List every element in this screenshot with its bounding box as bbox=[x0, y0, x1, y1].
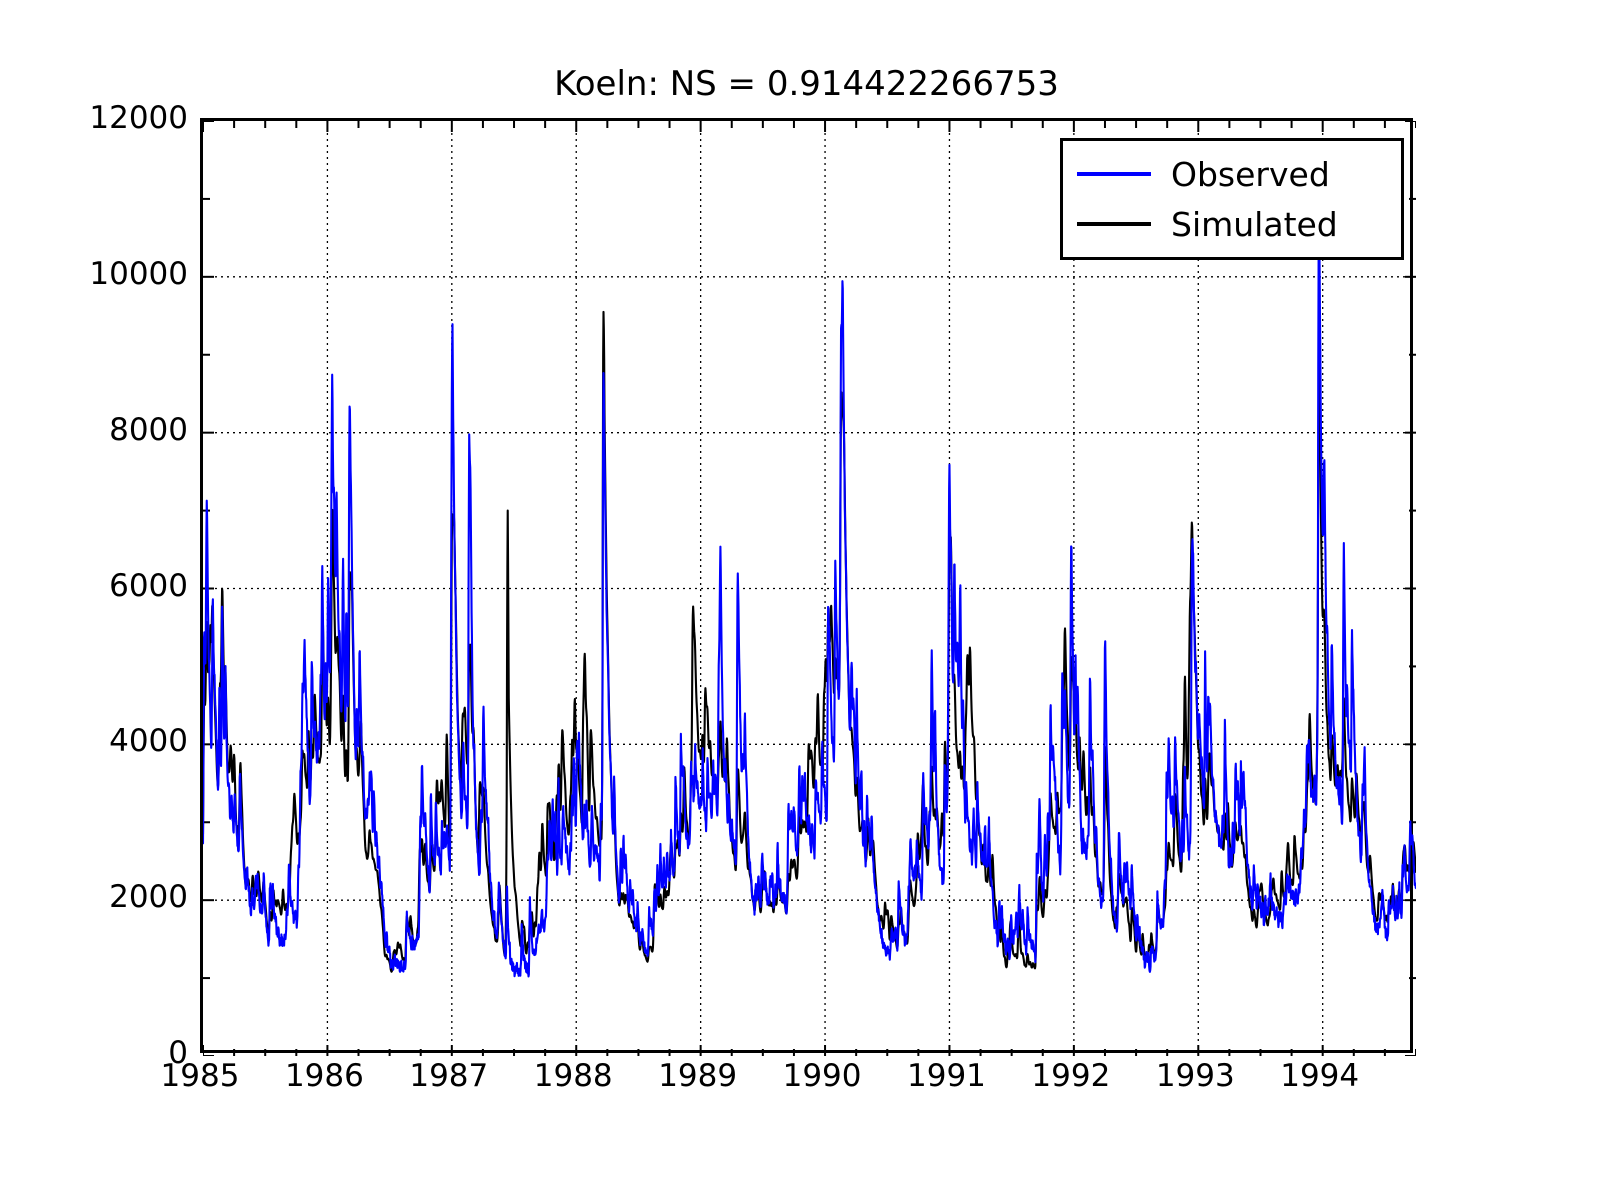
figure-canvas: Koeln: NS = 0.914422266753 0200040006000… bbox=[0, 0, 1600, 1200]
gridlines bbox=[203, 121, 1416, 1056]
x-tick-label: 1991 bbox=[907, 1058, 986, 1094]
x-tick-label: 1988 bbox=[534, 1058, 613, 1094]
chart-legend: Observed Simulated bbox=[1060, 138, 1404, 260]
legend-item-observed: Observed bbox=[1063, 149, 1401, 199]
x-tick-label: 1987 bbox=[409, 1058, 488, 1094]
x-tick-label: 1989 bbox=[658, 1058, 737, 1094]
x-tick-label: 1993 bbox=[1156, 1058, 1235, 1094]
x-tick-label: 1990 bbox=[783, 1058, 862, 1094]
legend-label-observed: Observed bbox=[1171, 155, 1330, 194]
legend-swatch-simulated bbox=[1077, 222, 1151, 226]
x-tick-label: 1985 bbox=[161, 1058, 240, 1094]
chart-plot-svg bbox=[203, 121, 1416, 1056]
y-tick-label: 10000 bbox=[0, 256, 188, 292]
y-tick-label: 8000 bbox=[0, 412, 188, 448]
y-tick-label: 4000 bbox=[0, 723, 188, 759]
y-tick-label: 12000 bbox=[0, 100, 188, 136]
x-tick-label: 1992 bbox=[1031, 1058, 1110, 1094]
x-tick-label: 1994 bbox=[1280, 1058, 1359, 1094]
series-line-observed bbox=[203, 187, 1416, 976]
legend-item-simulated: Simulated bbox=[1063, 199, 1401, 249]
legend-label-simulated: Simulated bbox=[1171, 205, 1338, 244]
y-tick-label: 6000 bbox=[0, 568, 188, 604]
page-title: Koeln: NS = 0.914422266753 bbox=[200, 64, 1413, 104]
y-tick-label: 2000 bbox=[0, 879, 188, 915]
legend-swatch-observed bbox=[1077, 172, 1151, 176]
series-line-simulated bbox=[203, 312, 1416, 972]
x-tick-label: 1986 bbox=[285, 1058, 364, 1094]
